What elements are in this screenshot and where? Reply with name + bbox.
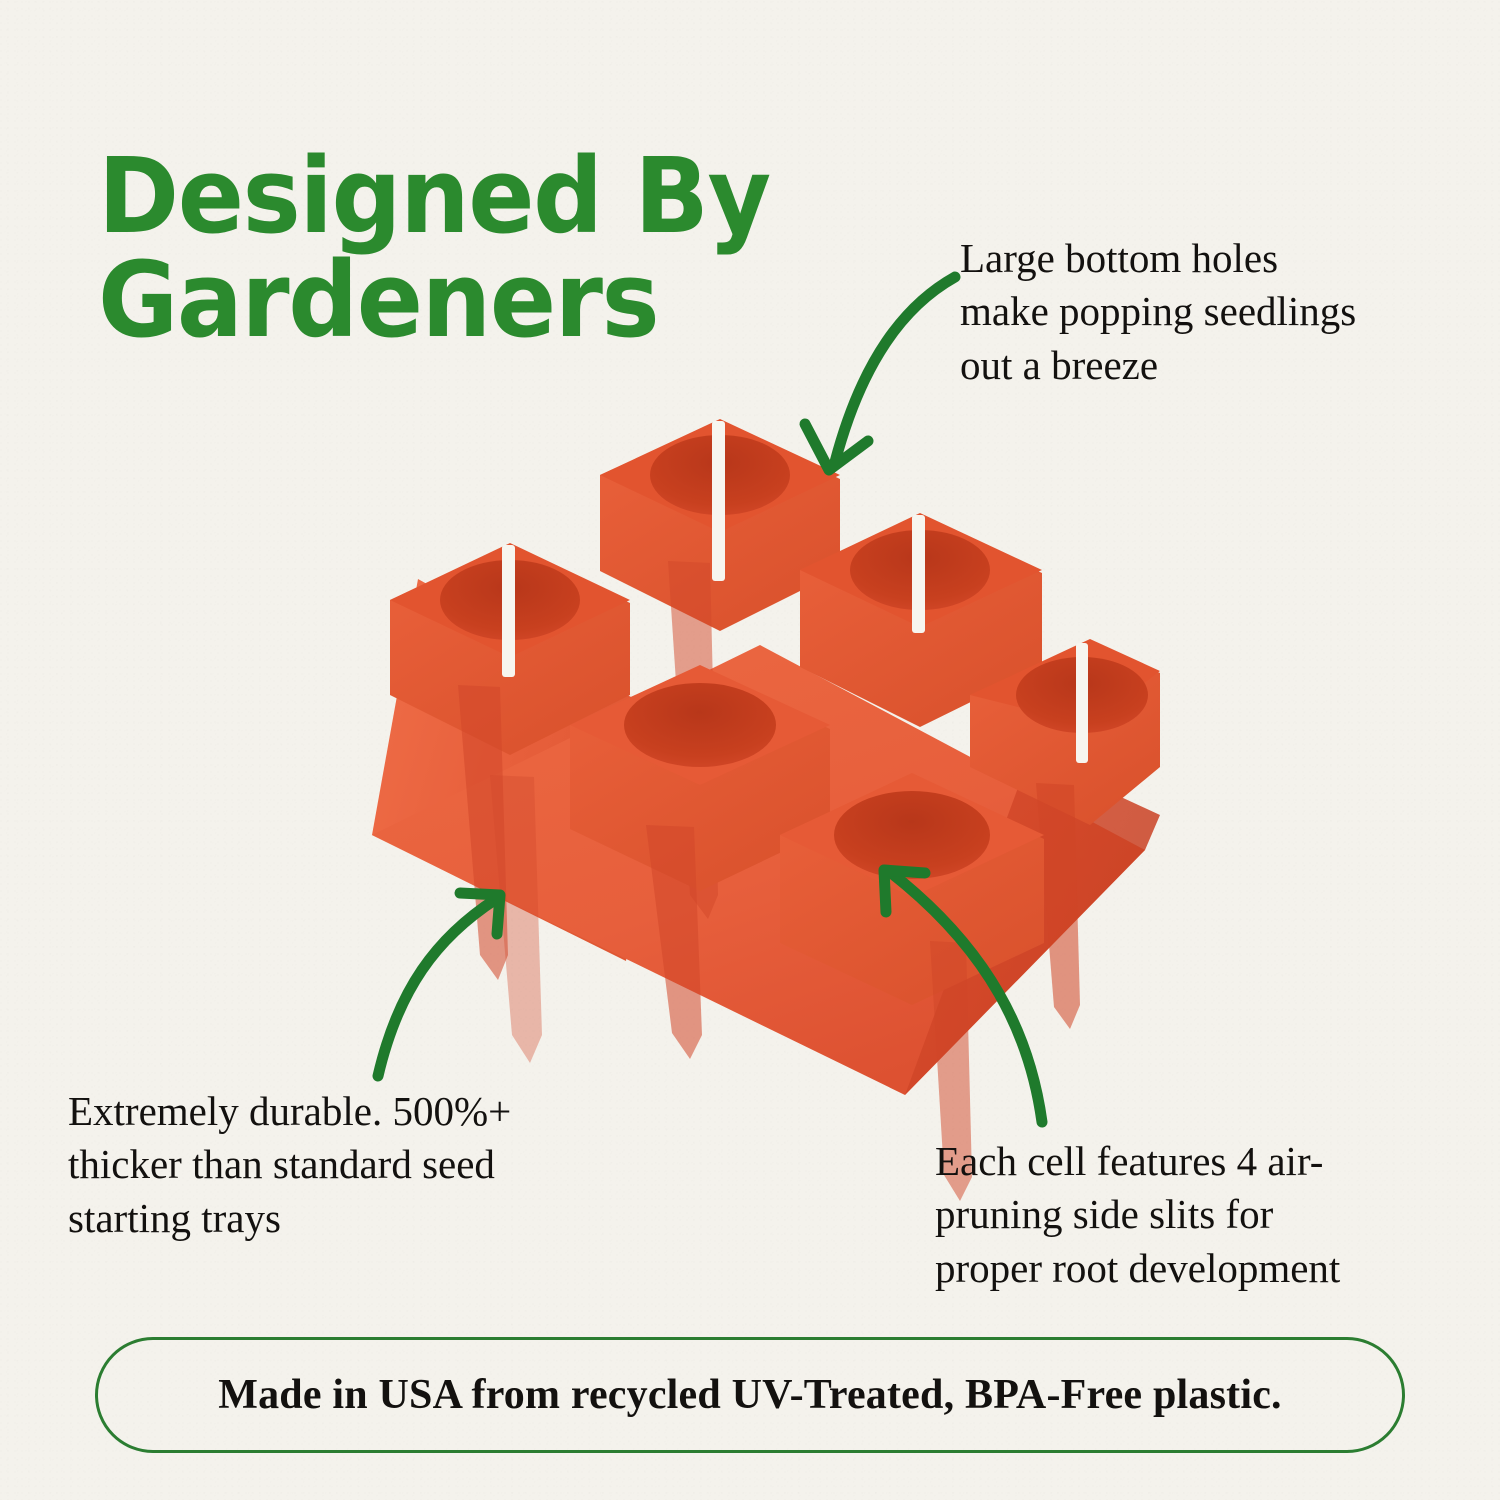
headline-line-1: Designed By	[98, 144, 869, 248]
headline-line-2: Gardeners	[98, 248, 869, 352]
infographic-page: Designed By Gardeners	[0, 0, 1500, 1500]
callout-extremely-durable: Extremely durable. 500%+ thicker than st…	[68, 1085, 678, 1245]
callout-large-bottom-holes: Large bottom holes make popping seedling…	[960, 232, 1480, 392]
product-image-seed-tray	[330, 395, 1160, 1095]
banner-text: Made in USA from recycled UV-Treated, BP…	[218, 1371, 1282, 1419]
made-in-usa-banner: Made in USA from recycled UV-Treated, BP…	[95, 1337, 1405, 1453]
callout-air-pruning-slits: Each cell features 4 air- pruning side s…	[935, 1135, 1475, 1295]
page-title: Designed By Gardeners	[98, 144, 869, 352]
